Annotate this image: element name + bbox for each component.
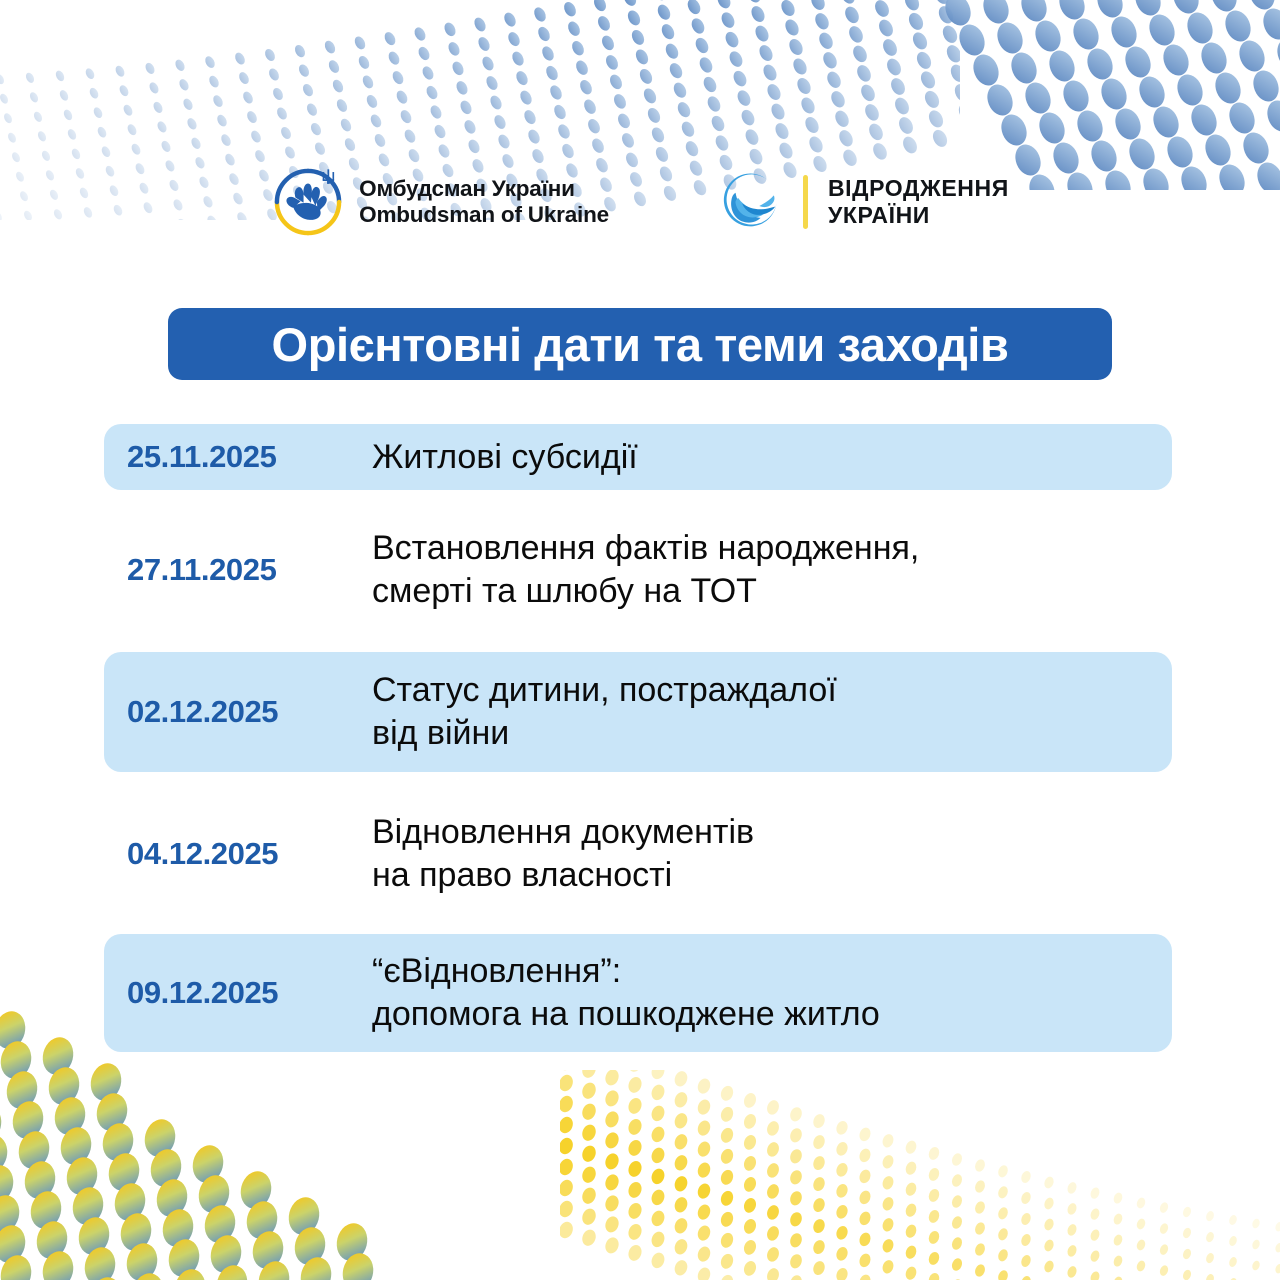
- logo-bar: Омбудсман України Ombudsman of Ukraine В…: [0, 165, 1280, 239]
- schedule-row-topic: Житлові субсидії: [372, 424, 1172, 490]
- poster-canvas: Омбудсман України Ombudsman of Ukraine В…: [0, 0, 1280, 1280]
- schedule-row[interactable]: 04.12.2025Відновлення документів на прав…: [104, 796, 1172, 912]
- decorative-dot-wave-bottom-right: [560, 1070, 1280, 1280]
- schedule-row-topic: Відновлення документів на право власност…: [372, 796, 1172, 912]
- ombudsman-logo: Омбудсман України Ombudsman of Ukraine: [271, 165, 609, 239]
- decorative-dot-grid-top-right: [890, 0, 1280, 190]
- schedule-row-date: 02.12.2025: [104, 652, 372, 772]
- schedule-row[interactable]: 27.11.2025Встановлення фактів народження…: [104, 512, 1172, 628]
- schedule-row-topic: Встановлення фактів народження, смерті т…: [372, 512, 1172, 628]
- schedule-row-date: 09.12.2025: [104, 934, 372, 1052]
- revival-name-line1: ВІДРОДЖЕННЯ: [828, 175, 1009, 202]
- schedule-row[interactable]: 02.12.2025Статус дитини, постраждалої ві…: [104, 652, 1172, 772]
- page-title: Орієнтовні дати та теми заходів: [272, 317, 1009, 372]
- schedule-list: 25.11.2025Житлові субсидії27.11.2025Вста…: [104, 424, 1172, 1066]
- revival-name-line2: УКРАЇНИ: [828, 202, 1009, 229]
- ombudsman-dove-hand-emblem-icon: [271, 165, 345, 239]
- schedule-row-date: 27.11.2025: [104, 512, 372, 628]
- ombudsman-name-en: Ombudsman of Ukraine: [359, 202, 609, 228]
- schedule-row[interactable]: 25.11.2025Житлові субсидії: [104, 424, 1172, 490]
- schedule-row-date: 04.12.2025: [104, 796, 372, 912]
- revival-logo: ВІДРОДЖЕННЯ УКРАЇНИ: [721, 169, 1009, 235]
- phoenix-bird-circle-emblem-icon: [721, 169, 787, 235]
- logo-divider: [803, 175, 808, 229]
- ombudsman-name-uk: Омбудсман України: [359, 176, 609, 202]
- schedule-row-topic: Статус дитини, постраждалої від війни: [372, 652, 1172, 772]
- page-title-banner: Орієнтовні дати та теми заходів: [168, 308, 1112, 380]
- schedule-row-topic: “єВідновлення”: допомога на пошкоджене ж…: [372, 934, 1172, 1052]
- schedule-row[interactable]: 09.12.2025“єВідновлення”: допомога на по…: [104, 934, 1172, 1052]
- schedule-row-date: 25.11.2025: [104, 424, 372, 490]
